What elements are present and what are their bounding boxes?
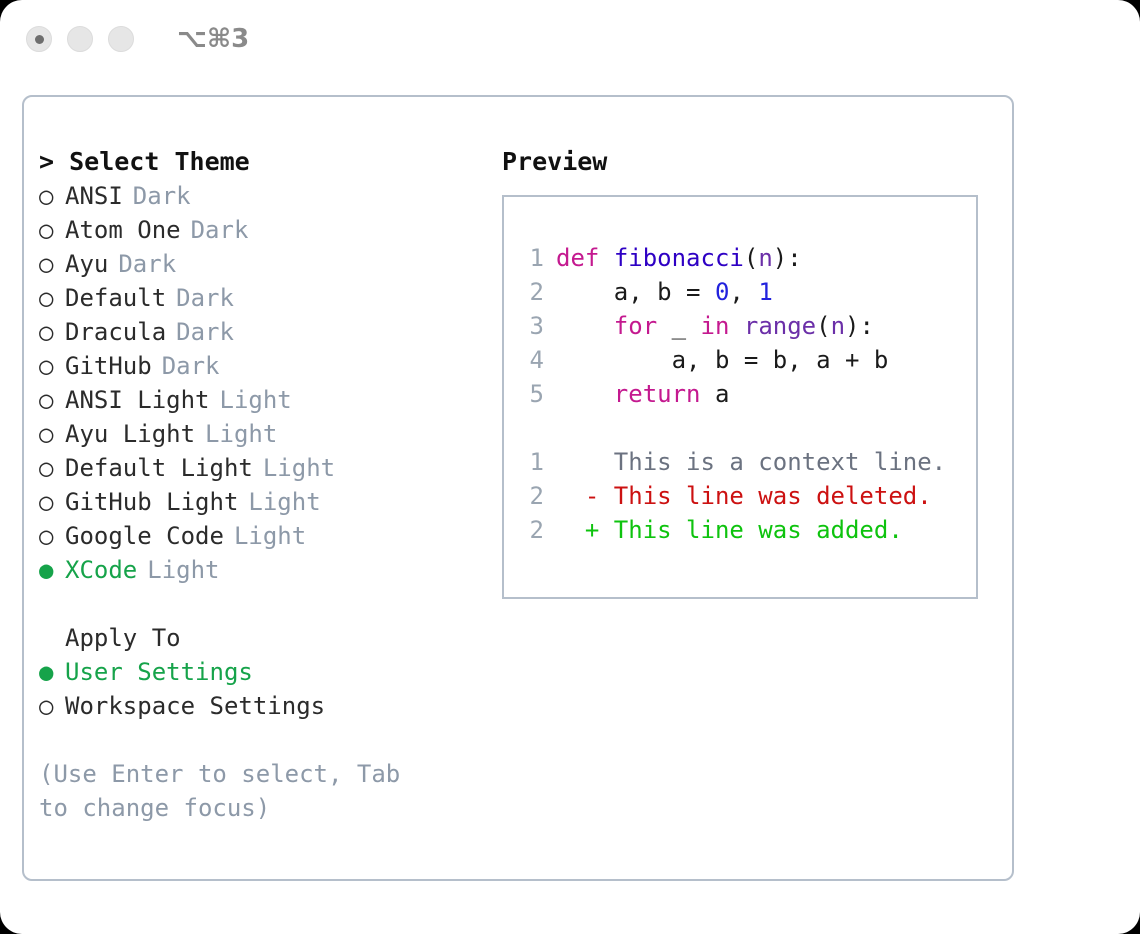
code-preview: 1def fibonacci(n):2 a, b = 0, 13 for _ i… [504,241,976,411]
code-line: 3 for _ in range(n): [504,309,976,343]
theme-name-label: Ayu Light [65,417,195,451]
code-token: ( [816,309,830,343]
window-dot-active-icon[interactable] [26,26,52,52]
radio-unselected-icon[interactable]: ○ [39,315,65,349]
code-token: 1 [758,275,772,309]
code-line: 4 a, b = b, a + b [504,343,976,377]
diff-marker [556,445,614,479]
radio-unselected-icon[interactable]: ○ [39,281,65,315]
theme-kind-label: Dark [176,281,234,315]
code-token [729,309,743,343]
radio-unselected-icon[interactable]: ○ [39,383,65,417]
theme-kind-label: Dark [162,349,220,383]
code-token [599,241,613,275]
theme-kind-label: Light [147,553,219,587]
theme-list-item[interactable]: ○Atom OneDark [39,213,499,247]
theme-name-label: ANSI [65,179,123,213]
code-token: a [701,377,730,411]
apply-to-label: User Settings [65,655,253,689]
theme-list-item[interactable]: ○Ayu LightLight [39,417,499,451]
code-token: ): [773,241,802,275]
diff-marker: + [556,513,614,547]
diff-marker: - [556,479,614,513]
preview-box: 1def fibonacci(n):2 a, b = 0, 13 for _ i… [502,195,978,599]
radio-selected-icon[interactable]: ● [39,553,65,587]
apply-to-option[interactable]: ●User Settings [39,655,499,689]
theme-list-item[interactable]: ○ANSI LightLight [39,383,499,417]
radio-unselected-icon[interactable]: ○ [39,417,65,451]
theme-list[interactable]: ○ANSIDark○Atom OneDark○AyuDark○DefaultDa… [39,179,499,587]
panel-columns: > Select Theme ○ANSIDark○Atom OneDark○Ay… [24,97,1012,879]
line-number: 2 [522,479,544,513]
radio-unselected-icon[interactable]: ○ [39,213,65,247]
theme-list-item[interactable]: ●XCodeLight [39,553,499,587]
title-bar: ⌥⌘3 [0,0,1140,78]
theme-name-label: Atom One [65,213,181,247]
theme-list-item[interactable]: ○DefaultDark [39,281,499,315]
code-line: 2 a, b = 0, 1 [504,275,976,309]
theme-name-label: ANSI Light [65,383,210,417]
line-number: 2 [522,513,544,547]
theme-name-label: Default [65,281,166,315]
theme-name-label: Ayu [65,247,108,281]
diff-preview: 1 This is a context line.2 - This line w… [504,445,976,547]
theme-kind-label: Dark [191,213,249,247]
theme-selector-column: > Select Theme ○ANSIDark○Atom OneDark○Ay… [39,145,499,825]
section-spacer [39,587,499,621]
theme-kind-label: Light [220,383,292,417]
apply-to-heading: Apply To [39,621,499,655]
theme-name-label: Default Light [65,451,253,485]
apply-to-label: Workspace Settings [65,689,325,723]
code-token: n [758,241,772,275]
code-diff-spacer [504,411,976,445]
diff-line: 2 - This line was deleted. [504,479,976,513]
line-number: 3 [522,309,544,343]
code-token [556,377,614,411]
theme-list-item[interactable]: ○DraculaDark [39,315,499,349]
radio-unselected-icon[interactable]: ○ [39,247,65,281]
theme-list-item[interactable]: ○Default LightLight [39,451,499,485]
radio-unselected-icon[interactable]: ○ [39,179,65,213]
code-token: def [556,241,599,275]
select-theme-heading: > Select Theme [39,145,499,179]
code-line: 1def fibonacci(n): [504,241,976,275]
code-token: a, b = b, a + b [556,343,888,377]
line-number: 1 [522,241,544,275]
keyboard-shortcut-label: ⌥⌘3 [177,24,249,54]
theme-list-item[interactable]: ○GitHub LightLight [39,485,499,519]
apply-to-list[interactable]: ●User Settings○Workspace Settings [39,655,499,723]
theme-kind-label: Dark [133,179,191,213]
theme-name-label: Google Code [65,519,224,553]
theme-kind-label: Dark [176,315,234,349]
preview-column: Preview 1def fibonacci(n):2 a, b = 0, 13… [502,145,1002,599]
main-panel: > Select Theme ○ANSIDark○Atom OneDark○Ay… [22,95,1014,881]
diff-text: This line was deleted. [614,479,932,513]
window-dot-3-icon[interactable] [108,26,134,52]
theme-kind-label: Light [234,519,306,553]
theme-list-item[interactable]: ○GitHubDark [39,349,499,383]
code-token: range [744,309,816,343]
code-token: ): [845,309,874,343]
apply-to-option[interactable]: ○Workspace Settings [39,689,499,723]
code-token [556,309,614,343]
code-token: return [614,377,701,411]
theme-kind-label: Light [263,451,335,485]
preview-heading: Preview [502,145,1002,179]
theme-list-item[interactable]: ○ANSIDark [39,179,499,213]
code-token: ( [744,241,758,275]
diff-text: This is a context line. [614,445,946,479]
code-token: for [614,309,657,343]
radio-unselected-icon[interactable]: ○ [39,689,65,723]
line-number: 1 [522,445,544,479]
radio-unselected-icon[interactable]: ○ [39,451,65,485]
code-token: fibonacci [614,241,744,275]
code-line: 5 return a [504,377,976,411]
diff-line: 1 This is a context line. [504,445,976,479]
line-number: 5 [522,377,544,411]
line-number: 4 [522,343,544,377]
radio-unselected-icon[interactable]: ○ [39,519,65,553]
theme-name-label: GitHub [65,349,152,383]
radio-unselected-icon[interactable]: ○ [39,349,65,383]
radio-unselected-icon[interactable]: ○ [39,485,65,519]
theme-list-item[interactable]: ○Google CodeLight [39,519,499,553]
code-token: a, b = [556,275,715,309]
code-token: _ [657,309,700,343]
theme-list-item[interactable]: ○AyuDark [39,247,499,281]
theme-name-label: Dracula [65,315,166,349]
window-dot-2-icon[interactable] [67,26,93,52]
theme-kind-label: Light [248,485,320,519]
theme-kind-label: Dark [118,247,176,281]
line-number: 2 [522,275,544,309]
theme-name-label: XCode [65,553,137,587]
app-window: ⌥⌘3 > Select Theme ○ANSIDark○Atom OneDar… [0,0,1140,934]
diff-line: 2 + This line was added. [504,513,976,547]
code-token: 0 [715,275,729,309]
radio-selected-icon[interactable]: ● [39,655,65,689]
keyboard-hint-text: (Use Enter to select, Tab to change focu… [39,757,439,825]
theme-name-label: GitHub Light [65,485,238,519]
theme-kind-label: Light [205,417,277,451]
code-token: in [701,309,730,343]
diff-text: This line was added. [614,513,903,547]
code-token: n [831,309,845,343]
code-token: , [729,275,758,309]
